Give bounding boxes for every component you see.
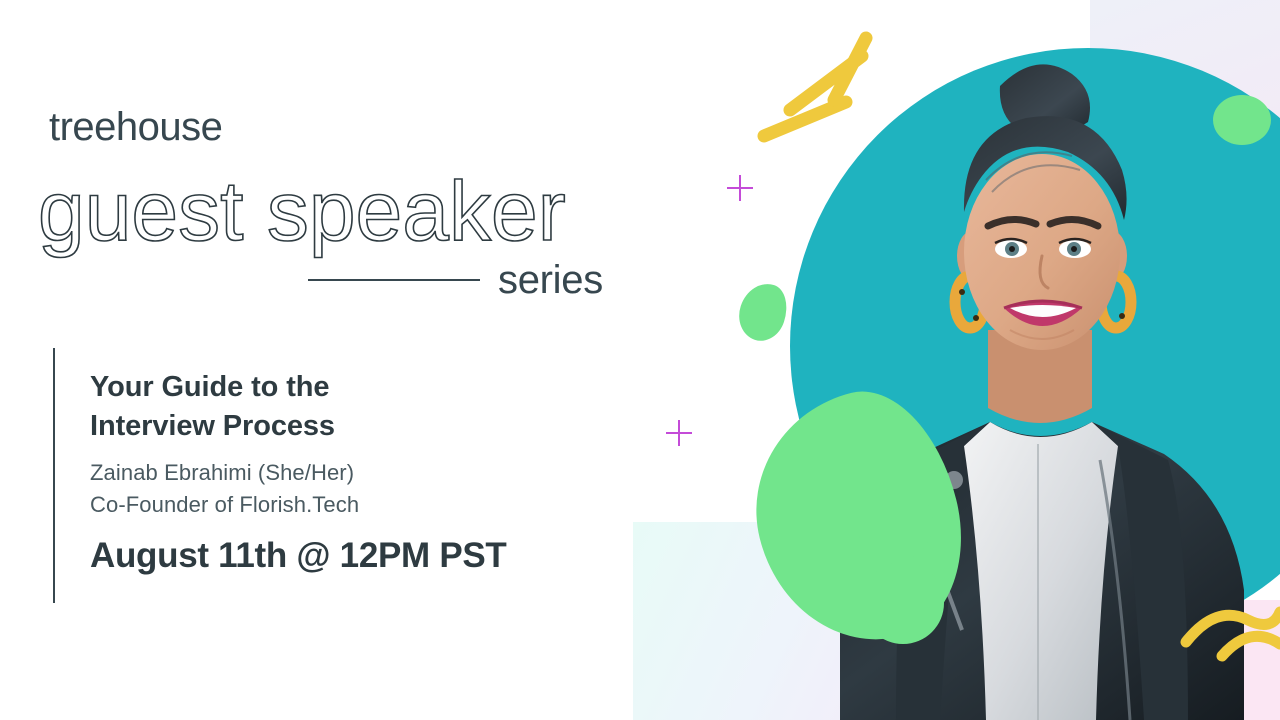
speaker-role: Co-Founder of Florish.Tech: [90, 489, 650, 521]
green-circle-medium: [857, 485, 933, 561]
series-row: series: [308, 256, 628, 304]
plus-bar-vertical: [678, 420, 680, 446]
series-divider-rule: [308, 279, 480, 281]
plus-mark-icon-2: [666, 420, 692, 446]
event-title-line-2: Interview Process: [90, 407, 650, 446]
plus-bar-vertical: [739, 175, 741, 201]
green-pill-shape: [732, 277, 794, 346]
event-title: Your Guide to the Interview Process: [90, 368, 650, 445]
event-title-line-1: Your Guide to the: [90, 371, 329, 403]
event-date-time: August 11th @ 12PM PST: [90, 535, 650, 577]
guest-speaker-outline-headline: guest speaker: [38, 163, 566, 260]
plus-mark-icon-1: [727, 175, 753, 201]
slide-canvas: treehouse guest speaker series Your Guid…: [0, 0, 1280, 720]
series-label: series: [498, 260, 603, 300]
green-circle-large: [862, 562, 944, 644]
treehouse-wordmark: treehouse: [49, 107, 222, 147]
left-accent-bar: [53, 348, 55, 603]
event-info-block: Your Guide to the Interview Process Zain…: [90, 368, 650, 577]
speaker-name: Zainab Ebrahimi (She/Her): [90, 457, 650, 489]
